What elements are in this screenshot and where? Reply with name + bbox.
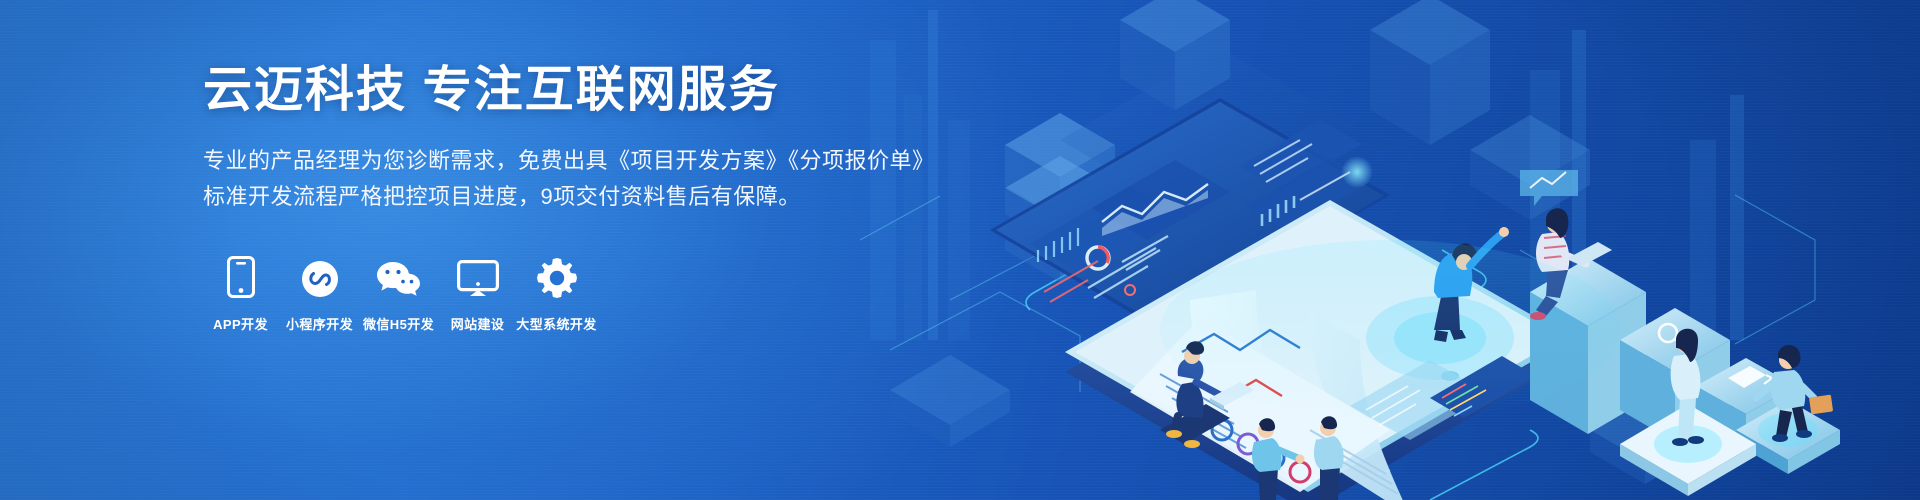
banner-subtitle-line-1: 专业的产品经理为您诊断需求，免费出具《项目开发方案》《分项报价单》 [203,144,935,178]
service-item-system[interactable]: 大型系统开发 [519,256,594,333]
service-label: APP开发 [213,314,268,333]
service-item-app[interactable]: APP开发 [203,256,278,333]
banner-subtitle-line-2: 标准开发流程严格把控项目进度，9项交付资料售后有保障。 [203,180,935,214]
hero-banner: 云迈科技 专注互联网服务 专业的产品经理为您诊断需求，免费出具《项目开发方案》《… [0,0,1920,500]
service-label: 网站建设 [451,314,505,333]
service-label: 大型系统开发 [516,314,596,333]
service-label: 小程序开发 [286,314,353,333]
service-item-website[interactable]: 网站建设 [440,256,515,333]
service-item-wechat[interactable]: 微信H5开发 [361,256,436,333]
mini-program-icon [301,256,339,298]
banner-headline: 云迈科技 专注互联网服务 [203,64,935,118]
wechat-icon [377,256,421,298]
service-item-miniprogram[interactable]: 小程序开发 [282,256,357,333]
isometric-tech-illustration [830,0,1920,500]
gear-icon [537,256,577,298]
service-list: APP开发 小程序开发 [203,256,935,333]
monitor-icon [457,256,499,298]
banner-content: 云迈科技 专注互联网服务 专业的产品经理为您诊断需求，免费出具《项目开发方案》《… [203,64,935,333]
mobile-phone-icon [227,256,255,298]
service-label: 微信H5开发 [363,314,434,333]
